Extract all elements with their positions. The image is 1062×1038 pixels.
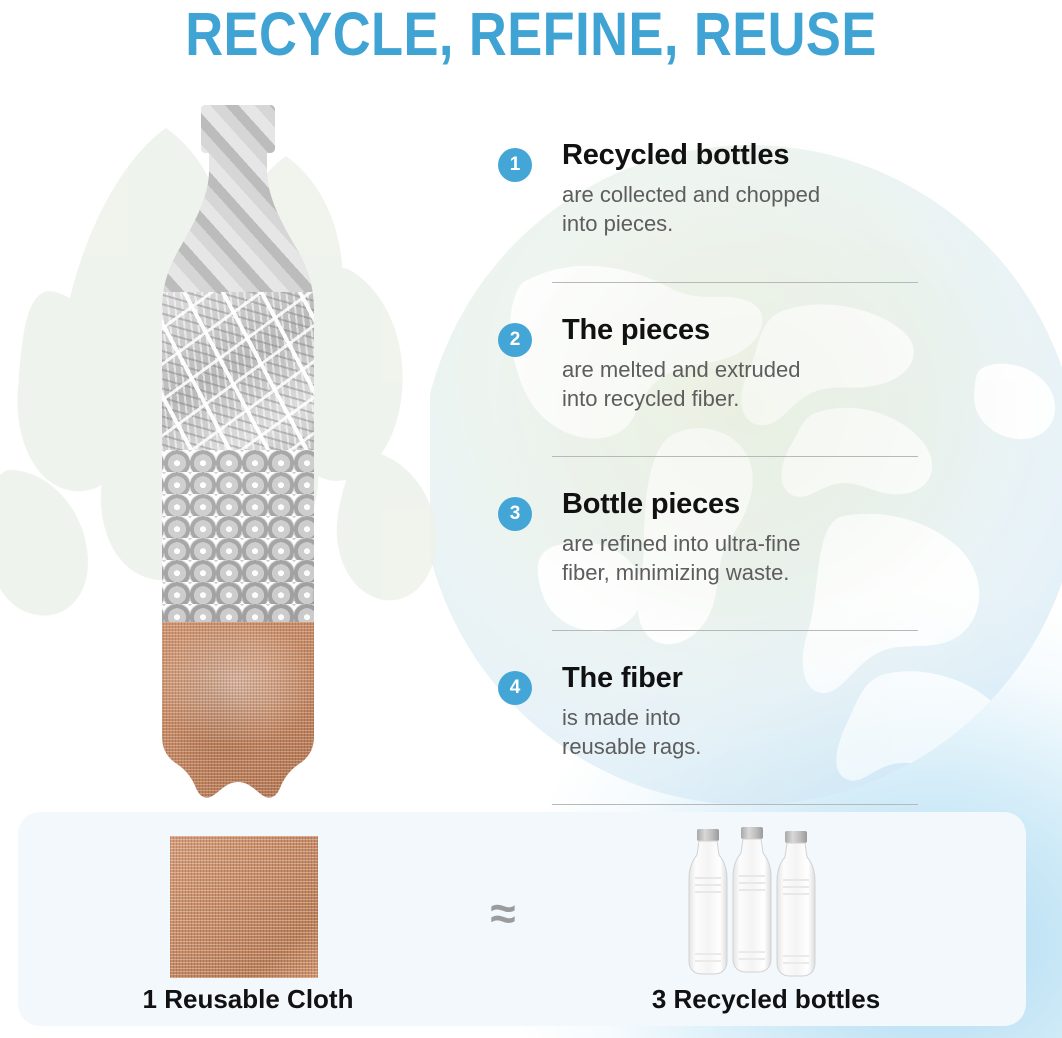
- step-number-badge-4: 4: [498, 671, 532, 705]
- step-body-2: are melted and extruded into recycled fi…: [562, 355, 928, 413]
- step-title-1: Recycled bottles: [562, 138, 928, 172]
- band-label-02: 02: [313, 404, 356, 446]
- step-body-3: are refined into ultra-fine fiber, minim…: [562, 529, 928, 587]
- process-step-3: 3 Bottle pieces are refined into ultra-f…: [498, 487, 928, 609]
- page-title: RECYCLE, REFINE, REUSE: [74, 2, 987, 66]
- step-number-badge-1: 1: [498, 148, 532, 182]
- step-body-4: is made into reusable rags.: [562, 703, 928, 761]
- process-step-2: 2 The pieces are melted and extruded int…: [498, 313, 928, 435]
- bottle-silhouette: 01 02 03 04: [112, 100, 392, 800]
- step-divider-2: [552, 456, 918, 457]
- step-number-badge-3: 3: [498, 497, 532, 531]
- recycled-bottles-graphic: [686, 826, 846, 978]
- reusable-cloth-label: 1 Reusable Cloth: [78, 984, 418, 1015]
- bottle-band-02: 02: [112, 292, 392, 450]
- comparison-card: 1 Reusable Cloth ≈: [18, 812, 1026, 1026]
- approximately-equal-icon: ≈: [458, 890, 548, 936]
- bottle-band-04: 04: [112, 622, 392, 800]
- bottle-band-01: 01: [112, 100, 392, 292]
- process-step-4: 4 The fiber is made into reusable rags.: [498, 661, 928, 783]
- step-divider-4: [552, 804, 918, 805]
- step-divider-3: [552, 630, 918, 631]
- recycled-bottles-label: 3 Recycled bottles: [596, 984, 936, 1015]
- step-title-4: The fiber: [562, 661, 928, 695]
- step-title-3: Bottle pieces: [562, 487, 928, 521]
- bottle-band-03: 03: [112, 450, 392, 622]
- step-number-badge-2: 2: [498, 323, 532, 357]
- process-step-1: 1 Recycled bottles are collected and cho…: [498, 138, 928, 260]
- reusable-cloth-swatch: [170, 836, 318, 978]
- infographic-page: RECYCLE, REFINE, REUSE 01 02 03 04 1 Rec…: [0, 0, 1062, 1038]
- process-step-list: 1 Recycled bottles are collected and cho…: [498, 138, 928, 805]
- band-label-01: 01: [313, 246, 356, 288]
- step-title-2: The pieces: [562, 313, 928, 347]
- step-body-1: are collected and chopped into pieces.: [562, 180, 928, 238]
- bottle-diagram: 01 02 03 04: [112, 100, 392, 800]
- band-label-03: 03: [313, 576, 356, 618]
- band-label-04: 04: [313, 754, 356, 796]
- step-divider-1: [552, 282, 918, 283]
